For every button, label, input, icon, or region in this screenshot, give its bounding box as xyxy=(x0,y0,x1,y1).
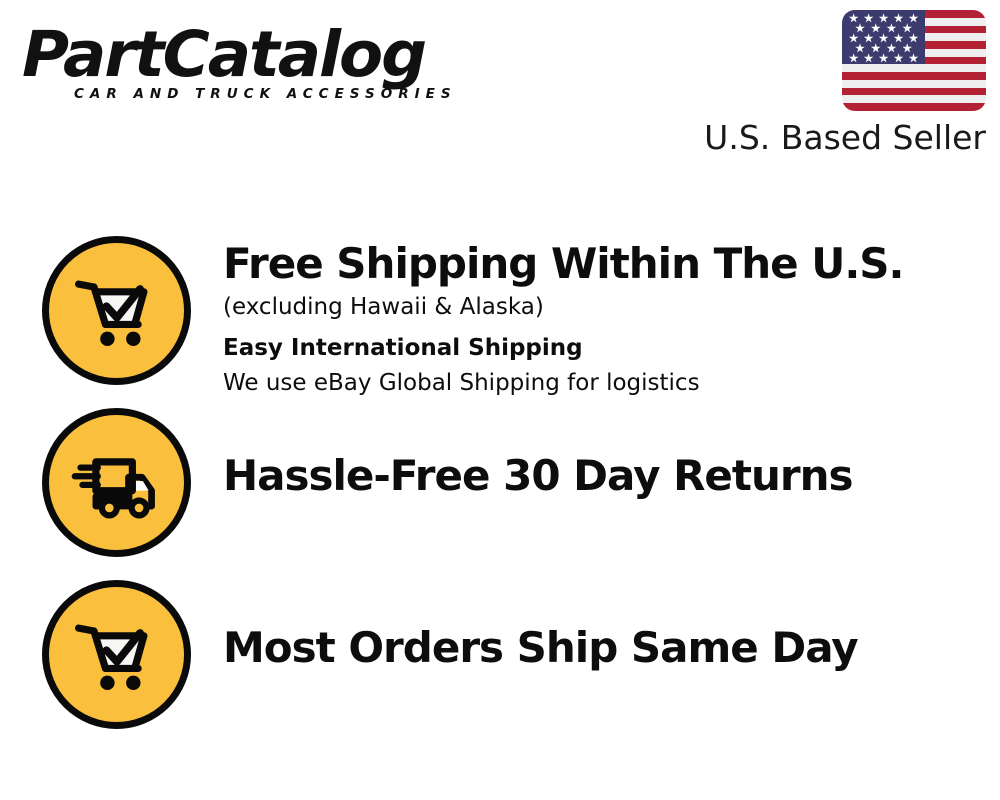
flag-stripe xyxy=(842,72,986,80)
flag-stripe xyxy=(842,64,986,72)
brand-logo: PartCatalog CAR AND TRUCK ACCESSORIES xyxy=(22,20,492,120)
flag-star xyxy=(879,33,889,43)
feature-icon-badge xyxy=(42,236,191,385)
flag-star-row xyxy=(846,33,921,43)
flag-star xyxy=(886,23,896,33)
flag-stripe xyxy=(842,103,986,111)
us-based-seller-label: U.S. Based Seller xyxy=(696,118,986,158)
brand-wordmark: PartCatalog xyxy=(22,20,501,90)
flag-star xyxy=(849,53,859,63)
flag-star xyxy=(849,33,859,43)
flag-star xyxy=(902,43,912,53)
flag-star xyxy=(864,13,874,23)
flag-star xyxy=(871,23,881,33)
feature-secondary-subtitle: We use eBay Global Shipping for logistic… xyxy=(223,366,1000,400)
feature-subtitle: (excluding Hawaii & Alaska) xyxy=(223,290,1000,324)
delivery-truck-icon xyxy=(69,435,165,531)
flag-star xyxy=(909,13,919,23)
feature-text-block: Most Orders Ship Same Day xyxy=(191,580,1000,674)
feature-row: Most Orders Ship Same Day xyxy=(0,580,1000,752)
flag-stripe xyxy=(842,95,986,103)
flag-star-row xyxy=(846,13,921,23)
shopping-cart-check-icon xyxy=(69,263,165,359)
flag-star xyxy=(855,43,865,53)
flag-star xyxy=(871,43,881,53)
feature-icon-badge xyxy=(42,580,191,729)
flag-star xyxy=(909,53,919,63)
flag-star xyxy=(855,23,865,33)
feature-text-block: Hassle-Free 30 Day Returns xyxy=(191,408,1000,502)
us-flag-icon xyxy=(842,10,986,111)
flag-stripe xyxy=(842,88,986,96)
flag-star xyxy=(849,13,859,23)
flag-star xyxy=(894,33,904,43)
feature-text-block: Free Shipping Within The U.S. (excluding… xyxy=(191,236,1000,400)
flag-star-row xyxy=(846,53,921,63)
flag-star-row xyxy=(846,23,921,33)
flag-star xyxy=(909,33,919,43)
feature-list: Free Shipping Within The U.S. (excluding… xyxy=(0,236,1000,752)
flag-star xyxy=(894,13,904,23)
feature-row: Free Shipping Within The U.S. (excluding… xyxy=(0,236,1000,408)
feature-row: Hassle-Free 30 Day Returns xyxy=(0,408,1000,580)
flag-star xyxy=(879,13,889,23)
flag-star xyxy=(894,53,904,63)
flag-star xyxy=(879,53,889,63)
us-based-seller-badge: U.S. Based Seller xyxy=(696,10,986,158)
flag-stripe xyxy=(842,80,986,88)
feature-title: Free Shipping Within The U.S. xyxy=(223,238,1000,290)
flag-star xyxy=(864,53,874,63)
flag-star xyxy=(886,43,896,53)
feature-title: Hassle-Free 30 Day Returns xyxy=(223,450,1000,502)
flag-star xyxy=(864,33,874,43)
feature-icon-badge xyxy=(42,408,191,557)
flag-star-row xyxy=(846,43,921,53)
shopping-cart-check-icon xyxy=(69,607,165,703)
flag-star xyxy=(902,23,912,33)
flag-star-grid xyxy=(846,13,921,61)
feature-secondary-title: Easy International Shipping xyxy=(223,324,1000,366)
flag-canton xyxy=(842,10,925,64)
feature-title: Most Orders Ship Same Day xyxy=(223,622,1000,674)
